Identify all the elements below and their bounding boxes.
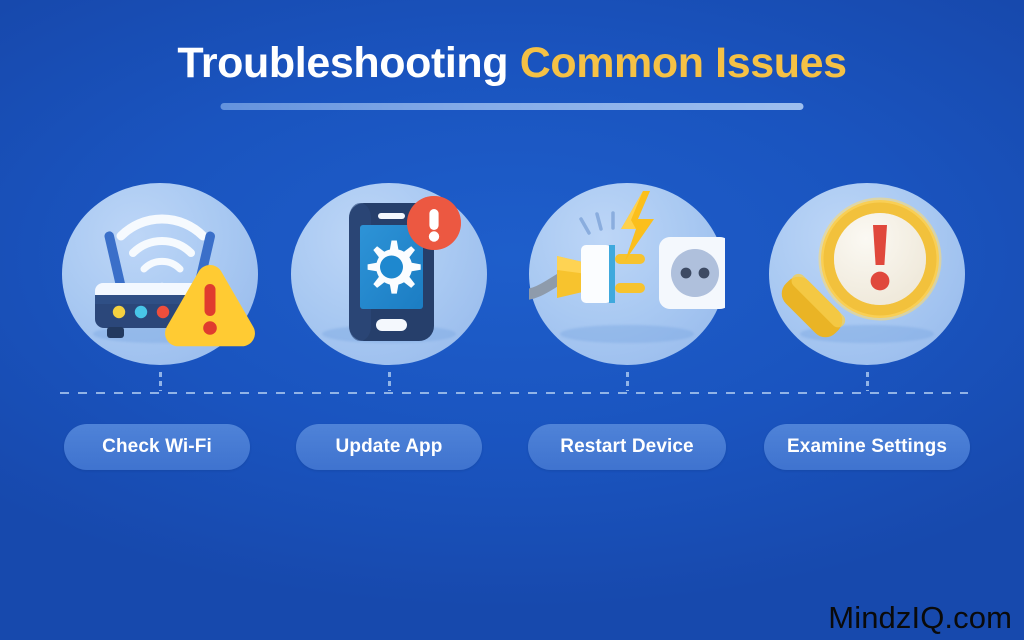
step-label-update-app[interactable]: Update App: [296, 424, 482, 470]
led-red: [157, 306, 169, 318]
motion-lines: [581, 213, 613, 233]
watermark: MindzIQ.com: [828, 600, 1012, 636]
timeline-tick-2: [388, 372, 391, 391]
smartphone-gear-alert-icon: [291, 183, 487, 365]
title-block: Troubleshooting Common Issues: [0, 42, 1024, 85]
plug-prongs: [615, 254, 645, 264]
step-3-icon-group[interactable]: [529, 183, 725, 365]
led-cyan: [135, 306, 147, 318]
timeline-tick-1: [159, 372, 162, 391]
power-plug-socket-icon: [529, 183, 725, 365]
step-label-check-wifi[interactable]: Check Wi-Fi: [64, 424, 250, 470]
timeline-tick-3: [626, 372, 629, 391]
step-4-icon-group[interactable]: [769, 183, 965, 365]
wifi-router-warning-icon: [62, 183, 258, 365]
infographic-canvas: Troubleshooting Common Issues: [0, 0, 1024, 640]
step-2-icon-group[interactable]: [291, 183, 487, 365]
gear-icon: [368, 241, 421, 294]
alert-badge: [407, 196, 461, 250]
title-underline: [221, 103, 804, 110]
steps-row: [0, 183, 1024, 365]
led-yellow: [113, 306, 125, 318]
page-title: Troubleshooting Common Issues: [0, 42, 1024, 85]
step-1-icon-group[interactable]: [62, 183, 258, 365]
timeline-dotted-line: [60, 392, 968, 394]
timeline-tick-4: [866, 372, 869, 391]
magnifier-alert-icon: [769, 183, 965, 365]
step-label-restart-device[interactable]: Restart Device: [528, 424, 726, 470]
step-label-examine-settings[interactable]: Examine Settings: [764, 424, 970, 470]
labels-row: Check Wi-Fi Update App Restart Device Ex…: [0, 424, 1024, 470]
title-yellow-part: Common Issues: [520, 39, 847, 87]
title-white-part: Troubleshooting: [177, 39, 519, 87]
